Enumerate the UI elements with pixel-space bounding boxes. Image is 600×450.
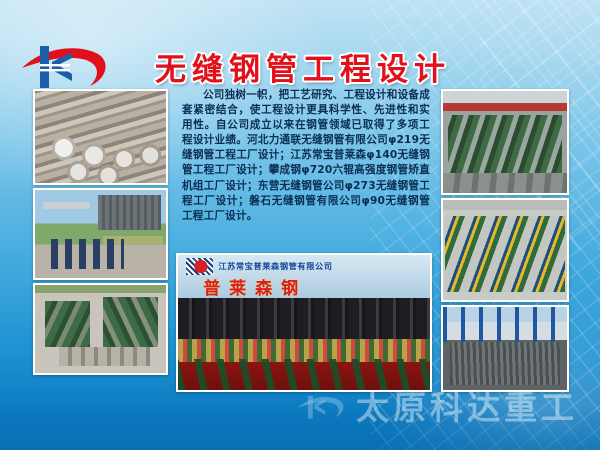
photo-equipment-assembly-yard: [441, 198, 569, 302]
photo-outdoor-equipment-yard: [33, 283, 168, 375]
page-title: 无缝钢管工程设计: [128, 44, 478, 88]
photo-people-row: [51, 239, 124, 269]
ceremony-people-row: [178, 298, 430, 341]
photo-workshop-floor: [443, 173, 567, 193]
ceremony-banner-company: 江苏常宝普莱森钢管有限公司: [218, 259, 420, 273]
slide-page: 无缝钢管工程设计 公司独树一帜，把工艺研究、工程设计和设备成套紧密结合，使工程设…: [0, 0, 600, 450]
photo-crane-shape: [43, 202, 90, 209]
body-copy: 公司独树一帜，把工艺研究、工程设计和设备成套紧密结合，使工程设计更具科学性、先进…: [182, 88, 430, 224]
photo-blue-structure-beams: [443, 307, 567, 342]
footer-band: [0, 406, 600, 450]
photo-opening-ceremony: 江苏常宝普莱森钢管有限公司 普莱森钢: [176, 253, 432, 392]
photo-machine-right: [103, 297, 158, 346]
photo-overhead-crane-beam: [443, 103, 567, 111]
photo-production-line: [448, 115, 562, 174]
photo-factory-entrance-group: [33, 188, 168, 280]
photo-cooling-bed-warehouse: [441, 305, 569, 392]
ceremony-foreground-plants: [178, 359, 430, 390]
photo-machine-left: [45, 301, 90, 347]
photo-cooling-bed: [450, 342, 559, 385]
photo-seamless-steel-pipes-stack: [33, 89, 168, 185]
photo-building-shape: [98, 195, 161, 230]
ceremony-banner-headline: 普莱森钢: [203, 273, 400, 300]
photo-assembly-workshop: [441, 89, 569, 195]
company-logo: [18, 34, 114, 92]
kd-logo-icon: [18, 34, 114, 92]
photo-ground-rails: [59, 347, 151, 366]
photo-equipment-rows: [445, 216, 564, 292]
